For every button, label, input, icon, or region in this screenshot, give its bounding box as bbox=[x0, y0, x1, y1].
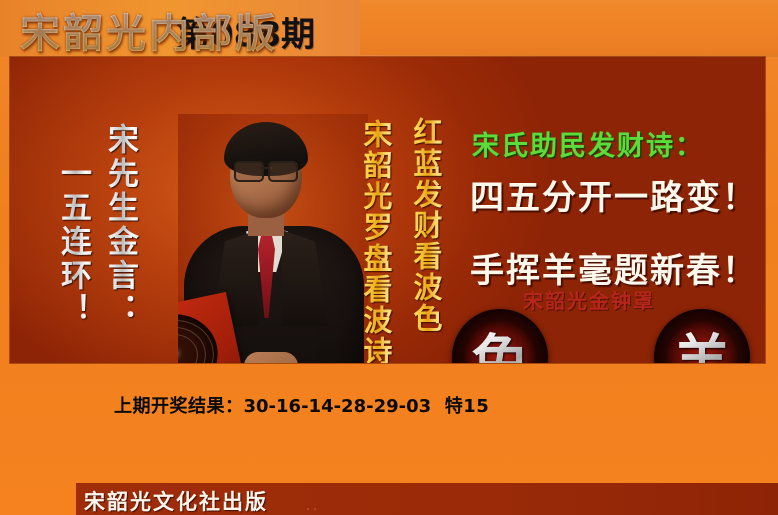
master-portrait-photo bbox=[178, 114, 368, 363]
golden-bell-armor-caption: 宋韶光金钟罩 bbox=[523, 285, 655, 314]
zodiac-badge-rabbit-label: 兔 bbox=[452, 317, 548, 364]
footer-dots: .. bbox=[306, 499, 320, 514]
vertical-text-master-saying: 宋先生金言： bbox=[98, 123, 143, 327]
lens-right bbox=[268, 161, 298, 182]
brand-title: 宋韶光内部版 bbox=[20, 1, 278, 59]
vertical-text-red-blue-wave: 红蓝发财看波色 bbox=[405, 117, 447, 334]
zodiac-badge-goat[interactable]: 羊 bbox=[654, 309, 750, 363]
lottery-poster: 第088期 宋韶光内部版 宋先生金言： 一五连环！ bbox=[0, 0, 778, 515]
zodiac-badge-goat-label: 羊 bbox=[654, 317, 750, 364]
previous-draw-special: 特15 bbox=[445, 396, 490, 417]
previous-draw-label: 上期开奖结果： bbox=[114, 396, 244, 417]
eyeglasses-icon bbox=[234, 161, 298, 178]
main-banner-panel: 宋先生金言： 一五连环！ bbox=[10, 57, 765, 363]
footer-bar: 宋韶光文化社出版 .. bbox=[76, 483, 778, 515]
lens-left bbox=[234, 161, 264, 182]
publisher-label: 宋韶光文化社出版 bbox=[84, 486, 268, 515]
brand-title-box bbox=[360, 0, 778, 55]
fortune-poem-title: 宋氏助民发财诗： bbox=[472, 124, 704, 163]
previous-draw-result: 上期开奖结果：30-16-14-28-29-03 特15 bbox=[114, 392, 489, 418]
portrait-hand bbox=[244, 352, 298, 363]
vertical-text-compass-poem: 宋韶光罗盘看波诗： bbox=[355, 119, 397, 363]
header-bar: 第088期 宋韶光内部版 bbox=[0, 0, 778, 57]
previous-draw-numbers: 30-16-14-28-29-03 bbox=[244, 396, 432, 417]
zodiac-badge-rabbit[interactable]: 兔 bbox=[452, 309, 548, 363]
fortune-poem-line-1: 四五分开一路变！ bbox=[470, 170, 758, 219]
vertical-text-lucky-chain: 一五连环！ bbox=[51, 157, 96, 327]
